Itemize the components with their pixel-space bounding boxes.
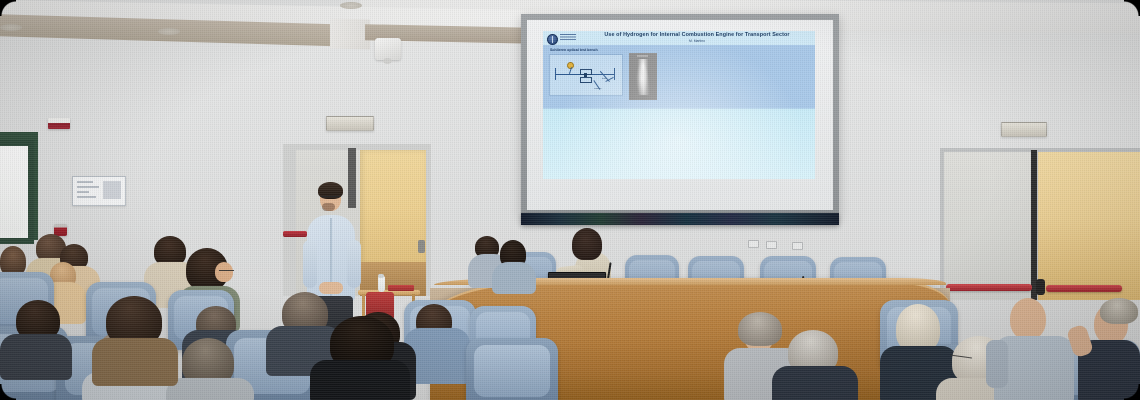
audience-torso <box>492 262 536 294</box>
wall-rail-red <box>283 231 307 237</box>
presenter-hands <box>319 282 343 294</box>
schlieren-schematic-diagram: knife camera <box>549 54 623 96</box>
presenter-arm-right <box>347 240 361 288</box>
water-bottle[interactable] <box>378 276 385 292</box>
rounded-corner <box>1124 0 1140 16</box>
rounded-corner <box>0 0 16 16</box>
presenter-glasses <box>321 196 340 197</box>
presenter-arm-left <box>303 240 317 288</box>
door-handle[interactable] <box>418 240 425 253</box>
wall-plate-center <box>326 116 374 131</box>
hydrogen-jet-plume <box>637 59 650 95</box>
exit-sign-right <box>1001 122 1047 137</box>
ceiling-downlight <box>340 2 362 9</box>
audience-glasses <box>219 270 234 271</box>
audience-torso <box>166 378 254 400</box>
wall-socket[interactable] <box>748 240 759 248</box>
panic-bar-right[interactable] <box>1046 285 1122 292</box>
panic-bar-knob <box>1036 279 1045 295</box>
audience-head-bald <box>1010 298 1046 340</box>
rounded-corner <box>0 384 16 400</box>
audience-torso <box>92 338 178 386</box>
wall-socket[interactable] <box>792 242 803 250</box>
audience-torso <box>772 366 858 400</box>
audience-torso <box>0 334 72 380</box>
institution-wordmark-logo <box>560 34 576 42</box>
screen-weight-bar <box>521 213 839 225</box>
door-gap-shadow <box>348 148 356 208</box>
slide-author: M. Martino <box>583 39 811 43</box>
nozzle-cap <box>637 55 648 57</box>
exit-door-left[interactable] <box>944 152 1032 300</box>
audience-hair <box>738 312 782 346</box>
soffit-corner <box>330 18 370 49</box>
moderator-hair <box>572 228 602 260</box>
wall-socket[interactable] <box>766 241 777 249</box>
ceiling-downlight <box>0 24 22 31</box>
presenter-beard <box>322 203 335 211</box>
exit-door-right[interactable] <box>1038 152 1140 300</box>
slide-title: Use of Hydrogen for Internal Combustion … <box>583 32 811 38</box>
wall-notice-left <box>72 176 126 206</box>
audience-torso <box>310 360 410 400</box>
rounded-corner <box>1124 384 1140 400</box>
schlieren-photograph <box>629 53 657 100</box>
auditorium-photo: Use of Hydrogen for Internal Combustion … <box>0 0 1140 400</box>
audience-hair <box>1100 298 1138 324</box>
ceiling-speaker-box <box>375 38 401 60</box>
audience-arm <box>986 340 1008 388</box>
bottle-cap <box>378 274 384 278</box>
red-folder[interactable] <box>388 285 414 291</box>
audience-hair <box>896 304 940 352</box>
ceiling-downlight <box>158 28 180 35</box>
window <box>0 140 34 244</box>
exit-sign <box>48 118 70 129</box>
slide-section-label: Schlieren optical test bench <box>550 48 598 52</box>
audience-seat[interactable] <box>466 338 558 400</box>
institution-roundel-logo <box>547 34 558 45</box>
projected-slide: Use of Hydrogen for Internal Combustion … <box>543 31 815 179</box>
exit-door-mullion <box>1031 150 1037 300</box>
panic-bar-left[interactable] <box>946 284 1032 291</box>
audience-head <box>215 262 233 282</box>
